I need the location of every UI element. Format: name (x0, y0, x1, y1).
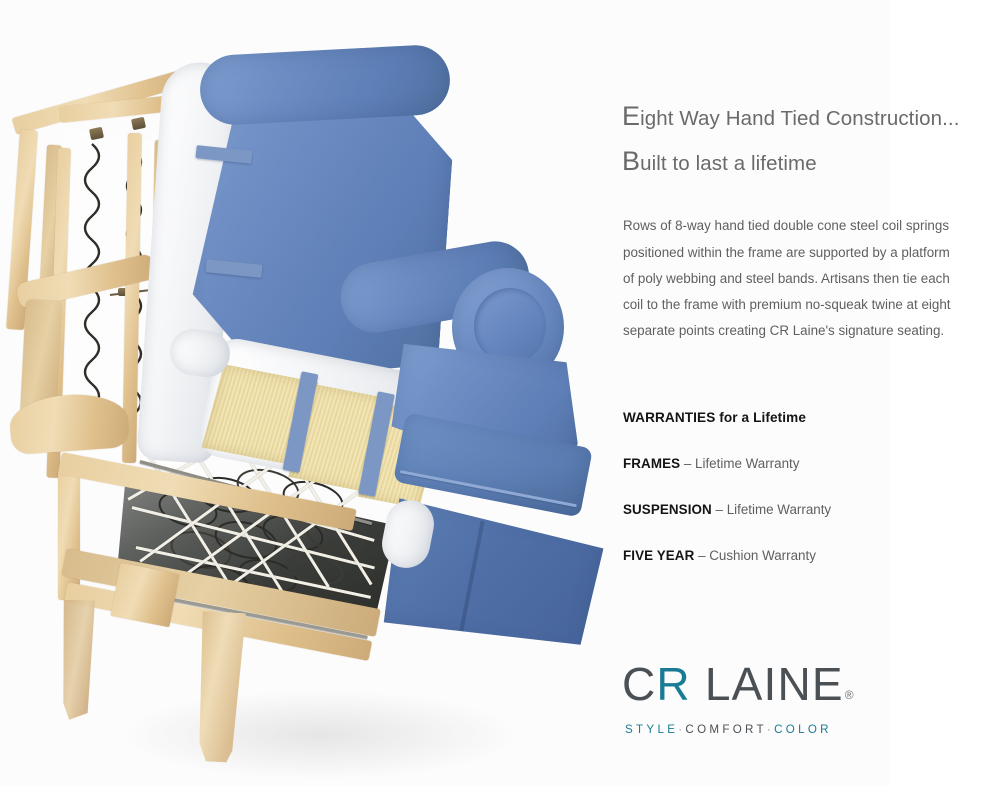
logo-letter-c: C (622, 658, 656, 710)
marketing-page: Eight Way Hand Tied Construction... Buil… (0, 0, 1000, 800)
logo-tagline: STYLE·COMFORT·COLOR (622, 723, 862, 736)
content-column: Eight Way Hand Tied Construction... Buil… (622, 0, 1000, 800)
page-headline: Eight Way Hand Tied Construction... Buil… (622, 96, 994, 186)
headline-dropcap-e: E (622, 101, 640, 131)
warranty-description: – Cushion Warranty (694, 548, 816, 563)
headline-line-1-text: ight Way Hand Tied Construction... (640, 107, 959, 130)
cr-laine-logo: CR LAINE® STYLE·COMFORT·COLOR (622, 660, 862, 736)
warranty-row-suspension: SUSPENSION – Lifetime Warranty (623, 502, 973, 517)
arm-roll-inner (474, 288, 546, 364)
warranty-term: SUSPENSION (623, 502, 712, 517)
tagline-style: STYLE (625, 723, 678, 736)
tagline-comfort: COMFORT (685, 723, 767, 736)
logo-laine: LAINE (691, 658, 844, 710)
warranty-term: FIVE YEAR (623, 548, 694, 563)
logo-wordmark: CR LAINE® (622, 660, 862, 720)
logo-letter-r: R (656, 658, 690, 710)
warranties-heading: WARRANTIES for a Lifetime (623, 410, 973, 425)
body-paragraph: Rows of 8-way hand tied double cone stee… (623, 213, 963, 344)
headline-line-1: Eight Way Hand Tied Construction... (622, 107, 960, 130)
tagline-color: COLOR (774, 723, 832, 736)
chair-leg-rear (59, 600, 95, 721)
warranties-section: WARRANTIES for a Lifetime FRAMES – Lifet… (623, 410, 973, 594)
frame-corner-block (110, 563, 179, 627)
warranty-row-frames: FRAMES – Lifetime Warranty (623, 456, 973, 471)
tagline-separator-dot-icon: · (767, 723, 774, 736)
frame-side-rail (58, 470, 80, 600)
warranty-description: – Lifetime Warranty (712, 502, 831, 517)
spring-clip (131, 117, 146, 130)
headline-line-2: Built to last a lifetime (622, 141, 994, 186)
floor-shadow (120, 690, 520, 780)
warranty-row-five-year: FIVE YEAR – Cushion Warranty (623, 548, 973, 563)
back-cushion-top-roll (198, 44, 451, 127)
headline-line-2-text: uilt to last a lifetime (640, 152, 817, 175)
chair-construction-photo (0, 0, 620, 790)
warranty-description: – Lifetime Warranty (680, 456, 799, 471)
registered-trademark-icon: ® (845, 688, 855, 702)
headline-dropcap-b: B (622, 146, 640, 176)
warranty-term: FRAMES (623, 456, 680, 471)
